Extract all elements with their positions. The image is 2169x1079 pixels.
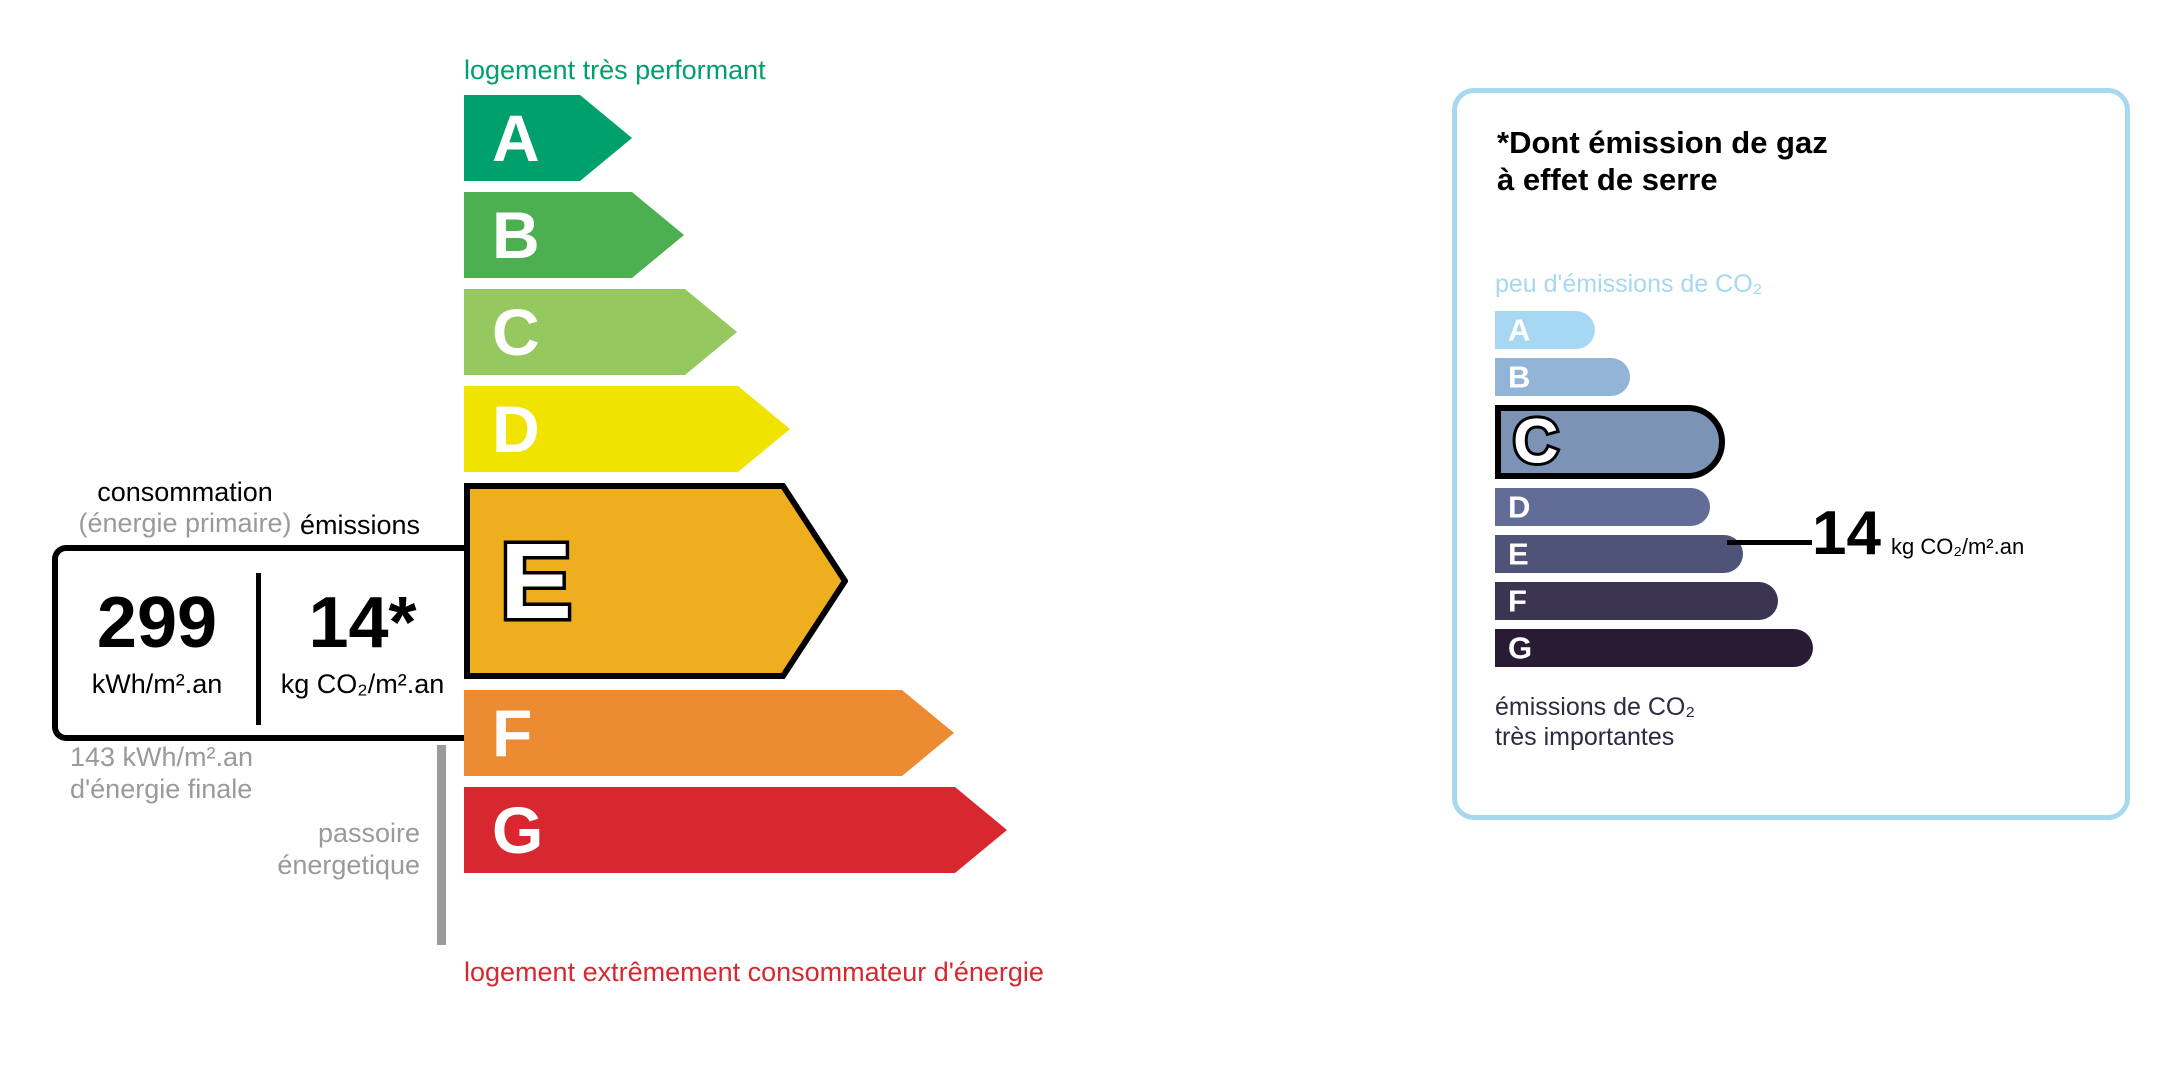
energy-band-letter-e: E [500, 527, 572, 635]
ges-title-line2: à effet de serre [1497, 162, 1828, 199]
ges-connector-line [1727, 540, 1812, 545]
dpe-diagram: logement très performant ABCDEFG consomm… [0, 0, 2169, 1079]
energy-band-g: G [464, 787, 1007, 873]
ges-value-cell: 14* kg CO₂/m².an [261, 551, 464, 735]
ges-band-letter-e: E [1508, 539, 1529, 570]
emissions-label: émissions [300, 510, 420, 541]
ges-value-unit: kg CO₂/m².an [281, 669, 445, 700]
energy-scale-panel: logement très performant ABCDEFG consomm… [0, 0, 1400, 1079]
energy-band-c: C [464, 289, 737, 375]
value-box: 299 kWh/m².an 14* kg CO₂/m².an [52, 545, 464, 741]
energy-band-letter-d: D [492, 396, 540, 462]
energy-band-shape-f [464, 690, 954, 776]
passoire-marker-bar [437, 745, 446, 945]
ges-bottom-line2: très importantes [1495, 723, 1695, 753]
passoire-line2: énergetique [160, 850, 420, 882]
final-energy-label: 143 kWh/m².an d'énergie finale [70, 742, 253, 806]
consumption-label: consommation (énergie primaire) [60, 477, 310, 539]
energy-band-f: F [464, 690, 954, 776]
ges-callout-unit: kg CO₂/m².an [1891, 534, 2024, 560]
primary-energy-cell: 299 kWh/m².an [58, 551, 256, 735]
passoire-line1: passoire [160, 818, 420, 850]
energy-band-a: A [464, 95, 632, 181]
ges-band-b: B [1495, 358, 1630, 396]
energy-bottom-caption: logement extrêmement consommateur d'éner… [464, 957, 1044, 988]
energy-band-letter-g: G [492, 797, 543, 863]
ges-band-letter-f: F [1508, 586, 1527, 617]
final-energy-line1: 143 kWh/m².an [70, 742, 253, 774]
ges-band-letter-g: G [1508, 633, 1532, 664]
energy-top-caption: logement très performant [464, 55, 766, 86]
energy-band-letter-c: C [492, 299, 540, 365]
ges-band-d: D [1495, 488, 1710, 526]
ges-value: 14* [308, 587, 416, 659]
consumption-label-main: consommation [97, 477, 273, 507]
energy-band-e: E [464, 483, 848, 679]
energy-band-letter-b: B [492, 202, 540, 268]
primary-energy-unit: kWh/m².an [92, 669, 223, 700]
ges-band-c: C [1495, 405, 1725, 479]
energy-band-d: D [464, 386, 790, 472]
ges-panel: *Dont émission de gaz à effet de serre p… [1452, 88, 2130, 820]
passoire-label: passoire énergetique [160, 818, 420, 882]
ges-band-f: F [1495, 582, 1778, 620]
ges-panel-title: *Dont émission de gaz à effet de serre [1497, 125, 1828, 198]
ges-callout-value: 14 [1812, 503, 1881, 565]
ges-bottom-caption: émissions de CO₂ très importantes [1495, 693, 1695, 752]
ges-band-letter-d: D [1508, 492, 1530, 523]
consumption-label-sub: (énergie primaire) [60, 508, 310, 539]
ges-band-a: A [1495, 311, 1595, 349]
ges-top-caption: peu d'émissions de CO₂ [1495, 270, 1762, 299]
ges-callout: 14 kg CO₂/m².an [1812, 503, 2024, 565]
ges-band-e: E [1495, 535, 1743, 573]
ges-band-letter-a: A [1508, 315, 1530, 346]
energy-band-letter-f: F [492, 700, 532, 766]
ges-band-g: G [1495, 629, 1813, 667]
ges-band-letter-b: B [1508, 362, 1530, 393]
energy-band-shape-a [464, 95, 632, 181]
energy-band-b: B [464, 192, 684, 278]
ges-band-letter-c: C [1513, 411, 1559, 474]
ges-bottom-line1: émissions de CO₂ [1495, 693, 1695, 723]
energy-band-letter-a: A [492, 105, 540, 171]
energy-band-shape-g [464, 787, 1007, 873]
primary-energy-value: 299 [97, 587, 217, 659]
final-energy-line2: d'énergie finale [70, 774, 253, 806]
ges-title-line1: *Dont émission de gaz [1497, 125, 1828, 162]
